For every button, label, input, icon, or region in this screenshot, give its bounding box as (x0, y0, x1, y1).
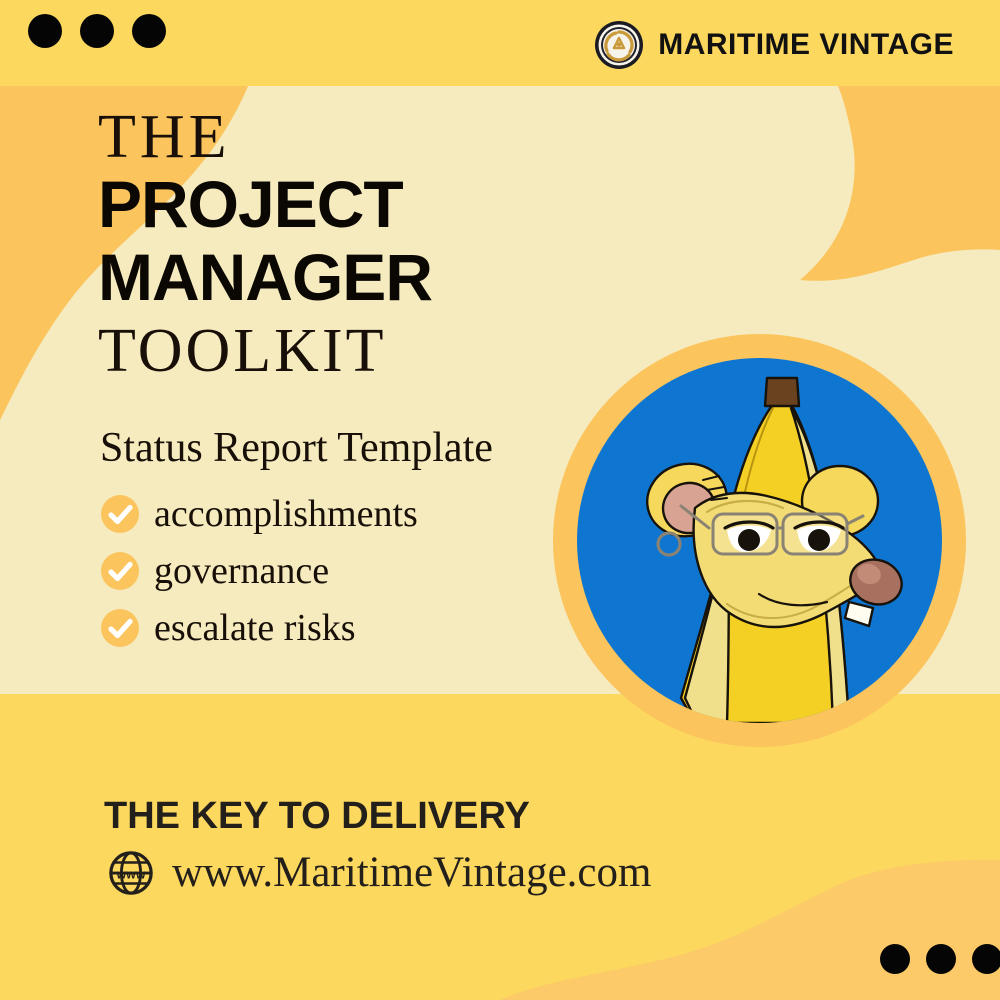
check-circle-icon (100, 551, 140, 591)
headline-line-toolkit: TOOLKIT (98, 319, 432, 384)
check-circle-icon (100, 608, 140, 648)
svg-text:www: www (115, 867, 145, 881)
brand-name: MARITIME VINTAGE (658, 28, 954, 62)
list-item: accomplishments (100, 492, 418, 536)
check-circle-icon (100, 494, 140, 534)
brand-lockup: MARITIME VINTAGE (594, 20, 954, 70)
dot (880, 944, 910, 974)
footer-url-text: www.MaritimeVintage.com (172, 848, 651, 897)
dot (926, 944, 956, 974)
character-medallion (553, 334, 966, 747)
list-item-label: accomplishments (154, 492, 418, 536)
maritime-vintage-roundel-icon (594, 20, 644, 70)
dot (28, 14, 62, 48)
dot (972, 944, 1000, 974)
poster-canvas: MARITIME VINTAGE THE PROJECT MANAGER TOO… (0, 0, 1000, 1000)
headline-line-manager: MANAGER (98, 241, 432, 315)
corner-dots-top-left (28, 14, 166, 48)
checklist: accomplishments governance escalate risk… (100, 492, 418, 650)
list-item-label: governance (154, 549, 329, 593)
footer-url-row[interactable]: www www.MaritimeVintage.com (108, 848, 651, 897)
list-item: escalate risks (100, 606, 418, 650)
medallion-backdrop (577, 358, 942, 723)
corner-dots-bottom-right (880, 944, 1000, 974)
globe-www-icon: www (108, 850, 154, 896)
list-item: governance (100, 549, 418, 593)
footer-tagline: THE KEY TO DELIVERY (104, 795, 530, 838)
dot (132, 14, 166, 48)
subtitle: Status Report Template (100, 424, 493, 472)
headline-block: THE PROJECT MANAGER TOOLKIT (98, 108, 432, 384)
dot (80, 14, 114, 48)
list-item-label: escalate risks (154, 606, 356, 650)
headline-line-the: THE (98, 108, 432, 168)
banana-suit-rat-character (577, 358, 942, 723)
headline-line-project: PROJECT (98, 168, 432, 242)
